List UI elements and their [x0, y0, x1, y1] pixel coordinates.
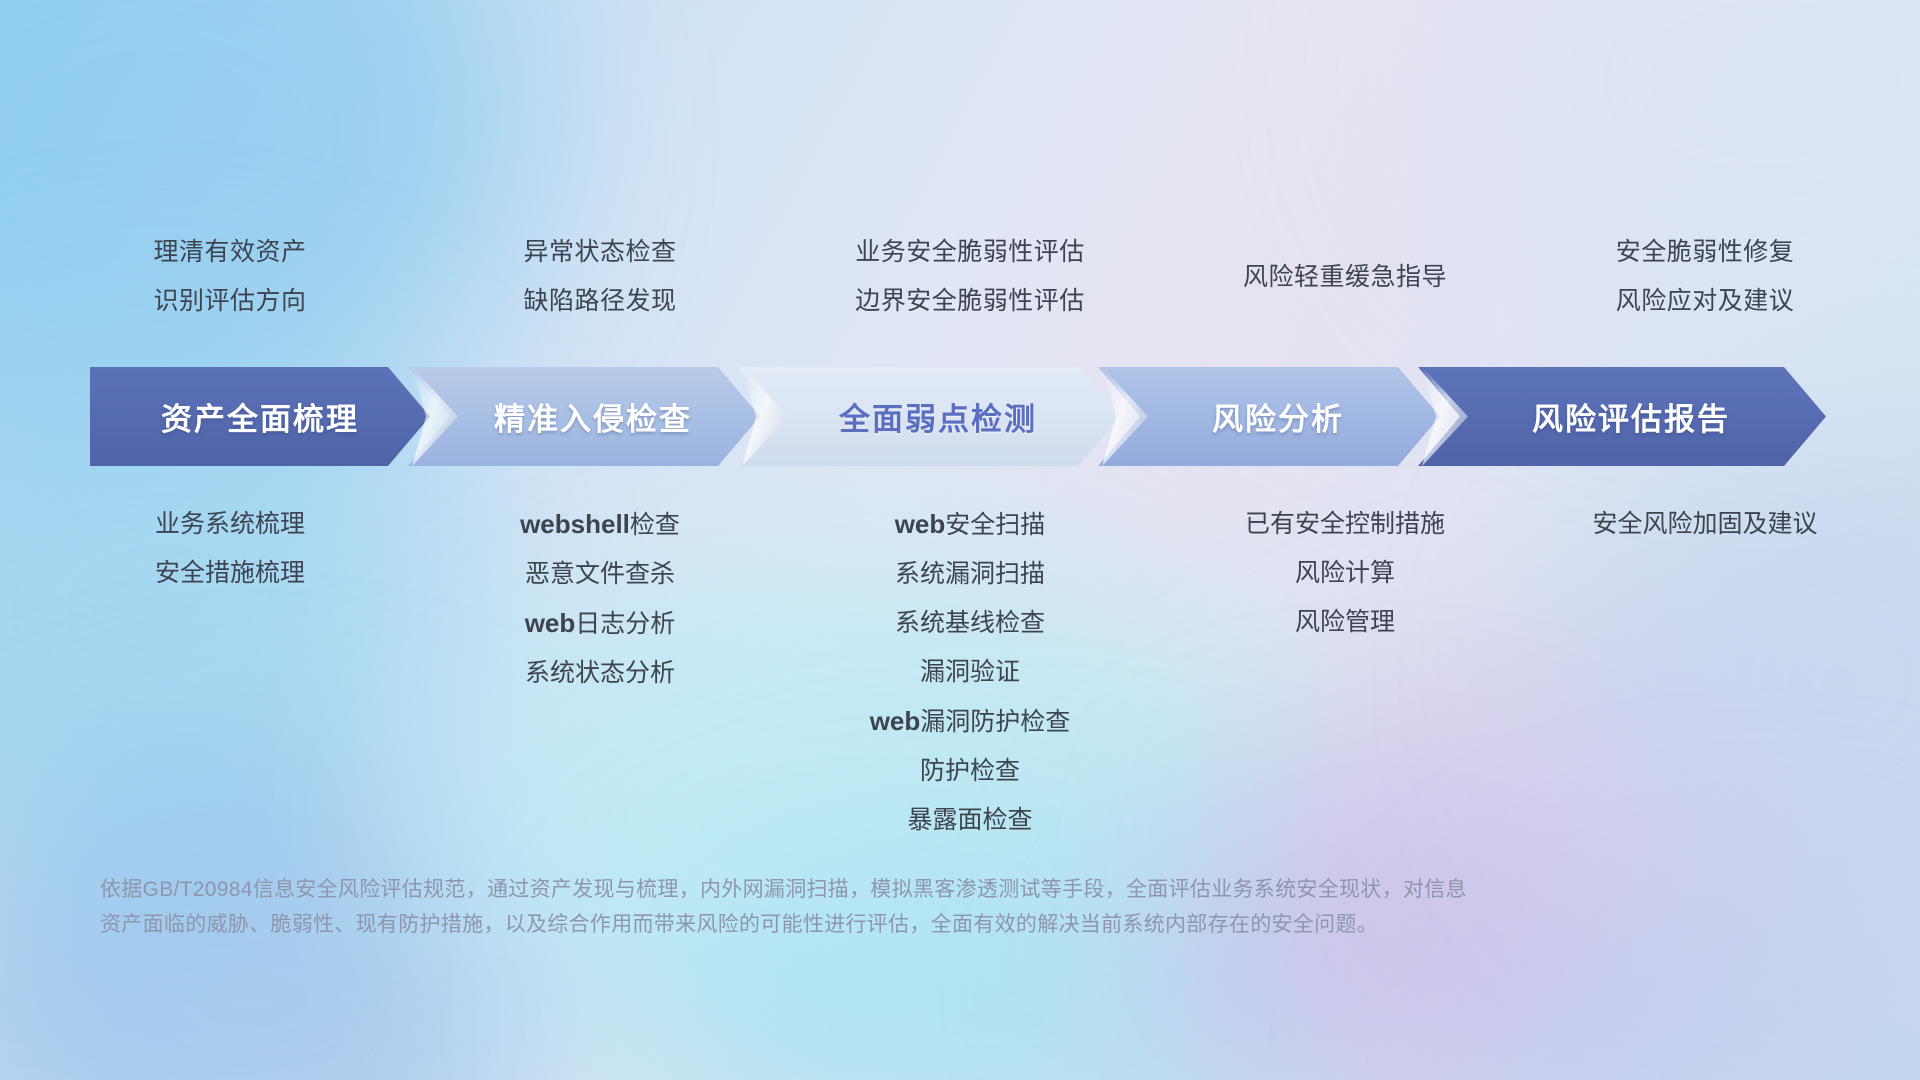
stage-arrow-5[interactable]: 风险评估报告 — [1418, 367, 1826, 466]
footer-description: 依据GB/T20984信息安全风险评估规范，通过资产发现与梳理，内外网漏洞扫描，… — [100, 872, 1700, 942]
top-item: 安全脆弱性修复 — [1520, 228, 1890, 277]
top-column-4: 风险轻重缓急指导 — [1170, 253, 1520, 302]
bottom-column-1: 业务系统梳理 安全措施梳理 — [30, 500, 430, 598]
top-column-2: 异常状态检查 缺陷路径发现 — [430, 228, 770, 326]
bottom-item: 恶意文件查杀 — [430, 550, 770, 599]
top-label-row: 理清有效资产 识别评估方向 异常状态检查 缺陷路径发现 业务安全脆弱性评估 边界… — [0, 232, 1920, 322]
top-item: 业务安全脆弱性评估 — [770, 228, 1170, 277]
bottom-item: 漏洞验证 — [770, 648, 1170, 697]
top-item: 异常状态检查 — [430, 228, 770, 277]
stage-arrow-label: 全面弱点检测 — [821, 394, 1037, 439]
bottom-item: web漏洞防护检查 — [770, 697, 1170, 747]
footer-line-2: 资产面临的威胁、脆弱性、现有防护措施，以及综合作用而带来风险的可能性进行评估，全… — [100, 907, 1700, 942]
top-column-1: 理清有效资产 识别评估方向 — [30, 228, 430, 326]
bottom-column-4: 已有安全控制措施 风险计算 风险管理 — [1170, 500, 1520, 647]
top-item: 识别评估方向 — [30, 277, 430, 326]
latin-token: webshell — [520, 509, 630, 539]
top-column-3: 业务安全脆弱性评估 边界安全脆弱性评估 — [770, 228, 1170, 326]
bottom-column-2: webshell检查 恶意文件查杀 web日志分析 系统状态分析 — [430, 500, 770, 698]
bottom-item: 业务系统梳理 — [30, 500, 430, 549]
bottom-item: 风险管理 — [1170, 598, 1520, 647]
bottom-column-3: web安全扫描 系统漏洞扫描 系统基线检查 漏洞验证 web漏洞防护检查 防护检… — [770, 500, 1170, 845]
latin-token: web — [525, 608, 576, 638]
bottom-column-5: 安全风险加固及建议 — [1520, 500, 1890, 549]
top-item: 理清有效资产 — [30, 228, 430, 277]
stage-arrow-label: 风险分析 — [1194, 394, 1344, 439]
bottom-label-row: 业务系统梳理 安全措施梳理 webshell检查 恶意文件查杀 web日志分析 … — [0, 500, 1920, 845]
stage-arrow-4[interactable]: 风险分析 — [1098, 367, 1440, 466]
bottom-item: 系统基线检查 — [770, 599, 1170, 648]
bottom-item: 防护检查 — [770, 747, 1170, 796]
latin-token: web — [870, 706, 921, 736]
bottom-item: 风险计算 — [1170, 549, 1520, 598]
process-arrow-band: 资产全面梳理 精准入侵检查 全面弱点检测 风险分析 风险评估报告 — [90, 367, 1850, 466]
bottom-item: webshell检查 — [430, 500, 770, 550]
top-item: 缺陷路径发现 — [430, 277, 770, 326]
top-item: 边界安全脆弱性评估 — [770, 277, 1170, 326]
top-item: 风险应对及建议 — [1520, 277, 1890, 326]
latin-token: web — [895, 509, 946, 539]
stage-arrow-1[interactable]: 资产全面梳理 — [90, 367, 430, 466]
bottom-item: 系统状态分析 — [430, 649, 770, 698]
top-column-5: 安全脆弱性修复 风险应对及建议 — [1520, 228, 1890, 326]
stage-arrow-label: 精准入侵检查 — [476, 394, 692, 439]
stage-arrow-3[interactable]: 全面弱点检测 — [738, 367, 1120, 466]
stage-arrow-label: 资产全面梳理 — [161, 394, 359, 439]
footer-line-1: 依据GB/T20984信息安全风险评估规范，通过资产发现与梳理，内外网漏洞扫描，… — [100, 872, 1700, 907]
top-item: 风险轻重缓急指导 — [1170, 253, 1520, 302]
bottom-item: 已有安全控制措施 — [1170, 500, 1520, 549]
bottom-item: 系统漏洞扫描 — [770, 550, 1170, 599]
bottom-item: web日志分析 — [430, 599, 770, 649]
stage-arrow-2[interactable]: 精准入侵检查 — [408, 367, 760, 466]
bottom-item: 安全措施梳理 — [30, 549, 430, 598]
bottom-item: 暴露面检查 — [770, 796, 1170, 845]
bottom-item: 安全风险加固及建议 — [1520, 500, 1890, 549]
bottom-item: web安全扫描 — [770, 500, 1170, 550]
stage-arrow-label: 风险评估报告 — [1514, 394, 1730, 439]
